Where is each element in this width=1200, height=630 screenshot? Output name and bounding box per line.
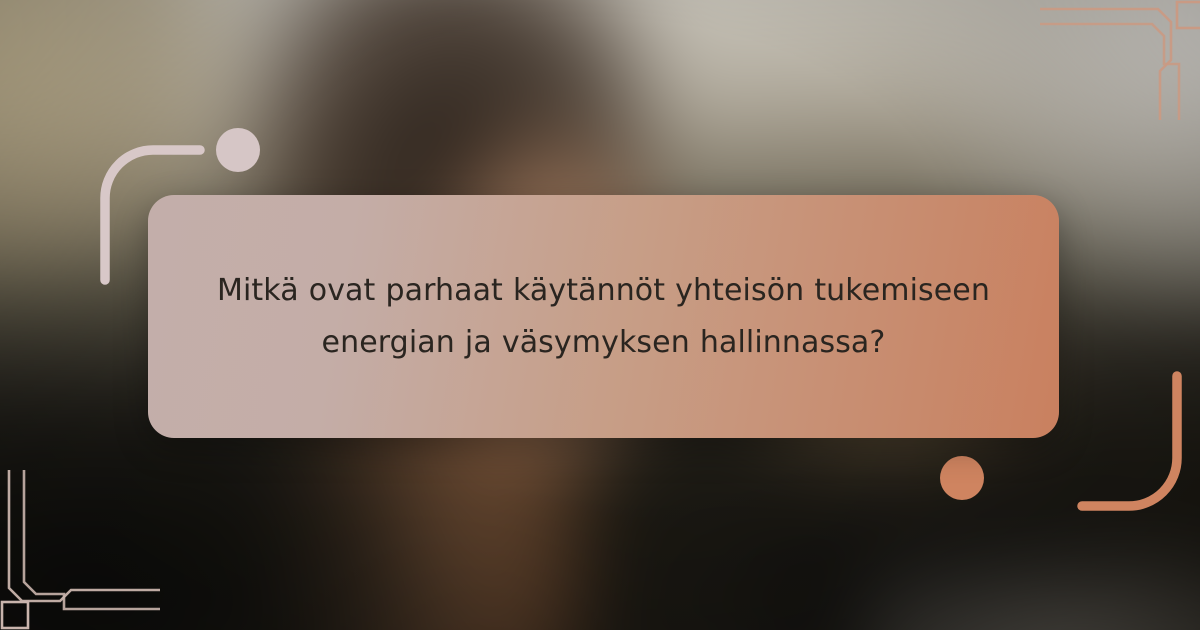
question-card: Mitkä ovat parhaat käytännöt yhteisön tu…	[148, 195, 1059, 438]
dot-bottom-right-icon	[940, 456, 984, 500]
question-text: Mitkä ovat parhaat käytännöt yhteisön tu…	[209, 265, 999, 368]
social-card-canvas: Mitkä ovat parhaat käytännöt yhteisön tu…	[0, 0, 1200, 630]
dot-top-left-icon	[216, 128, 260, 172]
